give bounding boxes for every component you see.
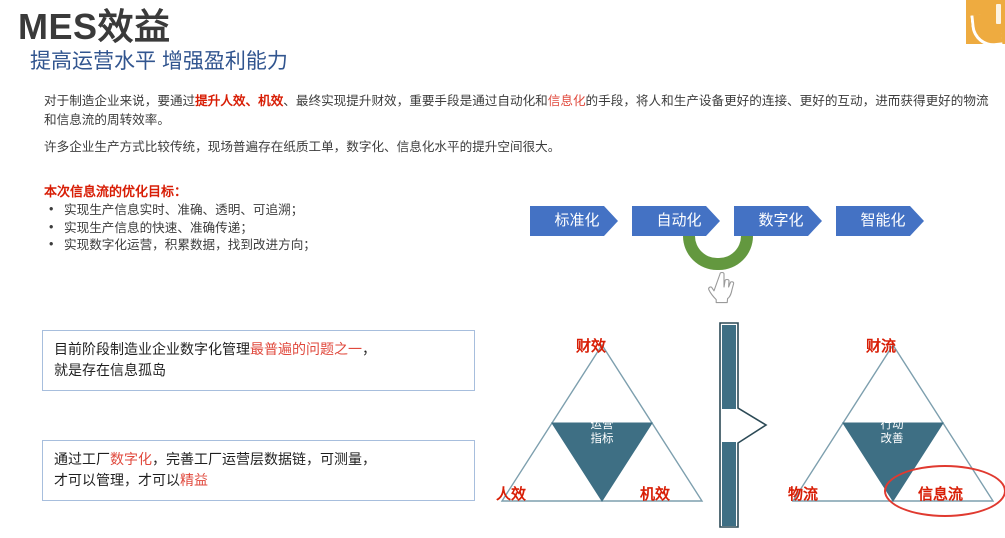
intro-segment-1: 对于制造企业来说，要通过 — [44, 94, 195, 108]
information-flow-emphasis-ellipse — [884, 465, 1005, 517]
callout1-line-2: 就是存在信息孤岛 — [54, 362, 166, 378]
intro-paragraph: 对于制造企业来说，要通过提升人效、机效、最终实现提升财效，重要手段是通过自动化和… — [44, 92, 989, 130]
callout-digitalization-benefit: 通过工厂数字化，完善工厂运营层数据链，可测量， 才可以管理，才可以精益 — [42, 440, 475, 501]
left-tri-center-line-1: 运营 — [572, 418, 632, 432]
left-tri-center-label: 运营 指标 — [572, 418, 632, 446]
right-tri-label-bottom-left: 物流 — [788, 483, 818, 504]
logo-tick-shape — [996, 4, 1001, 24]
list-item: 实现生产信息的快速、准确传递； — [46, 220, 316, 238]
efficiency-flow-diagram: 财效 人效 机效 运营 指标 财流 物流 信息流 行动 改善 — [480, 305, 1005, 537]
intro-highlight-2: 信息化 — [548, 94, 586, 108]
maturity-step-automation[interactable]: 自动化 — [632, 206, 720, 236]
callout2-highlight-2: 精益 — [180, 472, 208, 488]
list-item: 实现数字化运营，积累数据，找到改进方向； — [46, 237, 316, 255]
callout-information-silo: 目前阶段制造业企业数字化管理最普遍的问题之一， 就是存在信息孤岛 — [42, 330, 475, 391]
secondary-paragraph: 许多企业生产方式比较传统，现场普遍存在纸质工单，数字化、信息化水平的提升空间很大… — [44, 138, 989, 157]
goals-list: 实现生产信息实时、准确、透明、可追溯； 实现生产信息的快速、准确传递； 实现数字… — [46, 202, 316, 255]
goals-heading: 本次信息流的优化目标： — [44, 181, 187, 200]
maturity-step-intelligence[interactable]: 智能化 — [836, 206, 924, 236]
intro-segment-2: 、最终实现提升财效，重要手段是通过自动化和 — [283, 94, 547, 108]
left-tri-center-line-2: 指标 — [572, 432, 632, 446]
callout1-segment-1: 目前阶段制造业企业数字化管理 — [54, 341, 250, 357]
list-item: 实现生产信息实时、准确、透明、可追溯； — [46, 202, 316, 220]
brand-logo-icon — [966, 0, 1005, 44]
focus-arc-shape — [683, 236, 753, 270]
right-tri-center-line-1: 行动 — [862, 418, 922, 432]
right-tri-center-label: 行动 改善 — [862, 418, 922, 446]
maturity-step-standardization[interactable]: 标准化 — [530, 206, 618, 236]
callout2-segment-2: ，完善工厂运营层数据链，可测量， — [152, 451, 376, 467]
right-tri-label-top: 财流 — [866, 335, 896, 356]
callout2-segment-1: 通过工厂 — [54, 451, 110, 467]
callout2-line-2: 才可以管理，才可以 — [54, 472, 180, 488]
left-tri-label-top: 财效 — [576, 335, 606, 356]
page-title: MES效益 — [18, 0, 171, 50]
callout2-highlight-1: 数字化 — [110, 451, 152, 467]
left-tri-label-bottom-right: 机效 — [640, 483, 670, 504]
hand-pointer-icon — [705, 268, 739, 304]
maturity-step-digitalization[interactable]: 数字化 — [734, 206, 822, 236]
intro-highlight-1: 提升人效、机效 — [195, 94, 283, 108]
left-tri-label-bottom-left: 人效 — [496, 483, 526, 504]
right-tri-center-line-2: 改善 — [862, 432, 922, 446]
page-subtitle: 提高运营水平 增强盈利能力 — [30, 45, 288, 75]
callout1-segment-2: ， — [362, 341, 376, 357]
callout1-highlight: 最普遍的问题之一 — [250, 341, 362, 357]
